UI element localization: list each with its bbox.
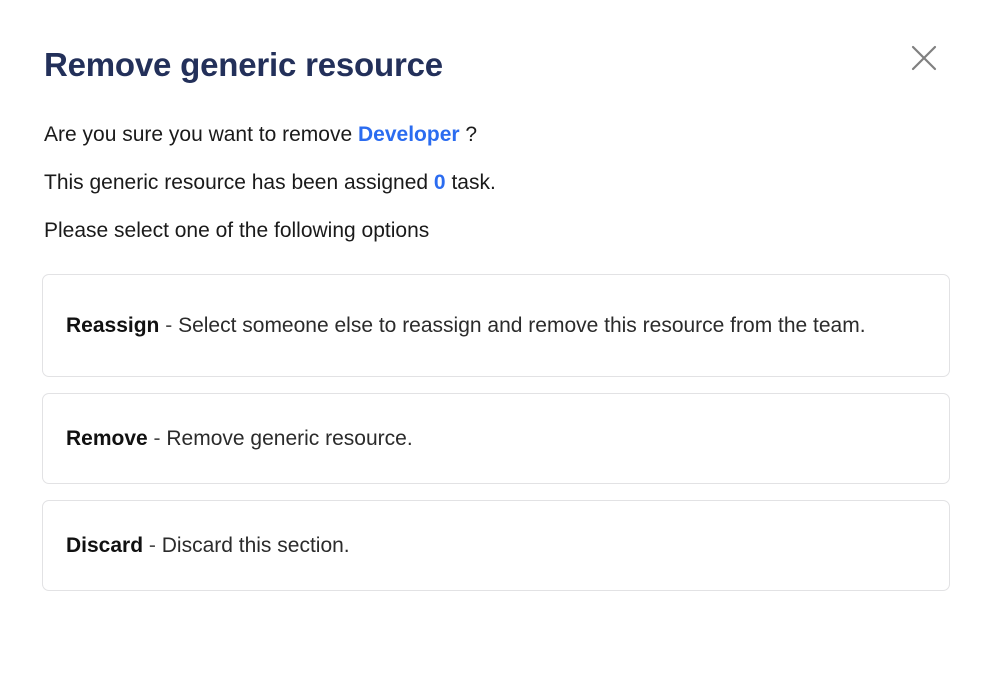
remove-generic-resource-dialog: Remove generic resource Are you sure you… xyxy=(0,0,988,682)
option-card-discard[interactable]: Discard - Discard this section. xyxy=(42,500,950,591)
option-description: Select someone else to reassign and remo… xyxy=(178,314,866,337)
page-title: Remove generic resource xyxy=(44,40,944,90)
option-text: Remove - Remove generic resource. xyxy=(66,427,413,450)
resource-name: Developer xyxy=(358,123,460,146)
assigned-prefix: This generic resource has been assigned xyxy=(44,171,428,194)
dialog-header: Remove generic resource xyxy=(44,40,944,92)
option-card-remove[interactable]: Remove - Remove generic resource. xyxy=(42,393,950,484)
assigned-tasks-line: This generic resource has been assigned … xyxy=(44,166,944,199)
option-text: Reassign - Select someone else to reassi… xyxy=(66,314,866,337)
close-icon xyxy=(911,45,937,71)
option-separator: - xyxy=(165,314,172,337)
option-description: Discard this section. xyxy=(162,534,350,557)
confirmation-prefix: Are you sure you want to remove xyxy=(44,123,352,146)
confirmation-suffix: ? xyxy=(465,123,477,146)
option-text: Discard - Discard this section. xyxy=(66,534,350,557)
options-list: Reassign - Select someone else to reassi… xyxy=(42,274,950,591)
option-description: Remove generic resource. xyxy=(166,427,412,450)
option-card-reassign[interactable]: Reassign - Select someone else to reassi… xyxy=(42,274,950,377)
confirmation-line: Are you sure you want to remove Develope… xyxy=(44,118,944,151)
option-name: Remove xyxy=(66,427,148,450)
assigned-suffix: task. xyxy=(451,171,495,194)
instruction-line: Please select one of the following optio… xyxy=(44,214,944,247)
dialog-body: Are you sure you want to remove Develope… xyxy=(44,118,944,247)
option-separator: - xyxy=(154,427,161,450)
assigned-task-count: 0 xyxy=(434,171,446,194)
option-name: Reassign xyxy=(66,314,159,337)
option-name: Discard xyxy=(66,534,143,557)
option-separator: - xyxy=(149,534,156,557)
close-button[interactable] xyxy=(904,38,944,78)
